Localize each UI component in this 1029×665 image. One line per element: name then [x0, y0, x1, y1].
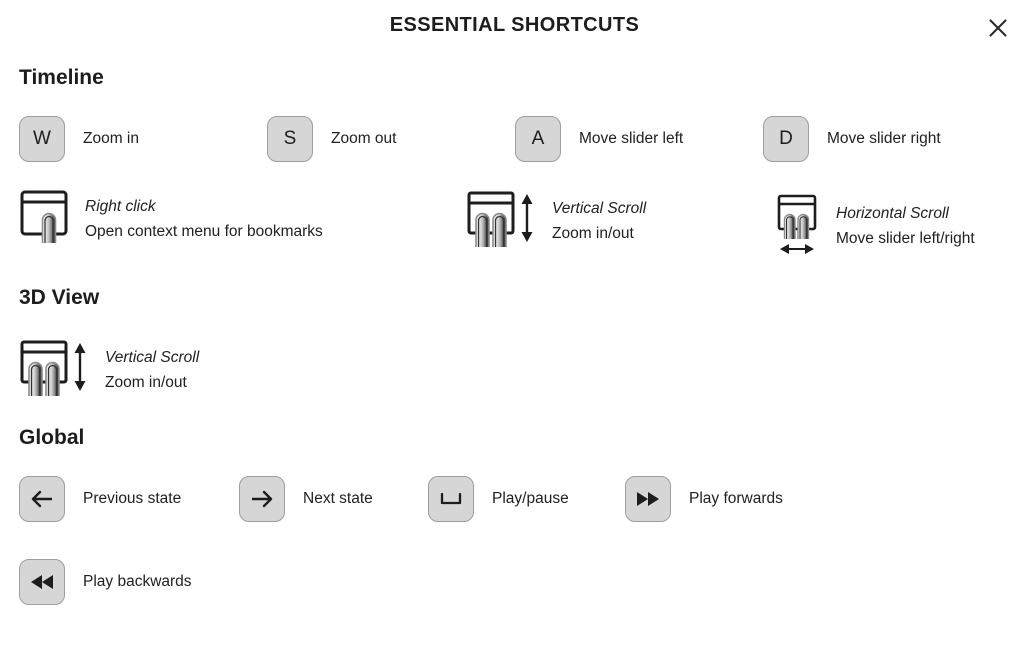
- timeline-key-row: W Zoom in S Zoom out A Move slider left …: [19, 116, 1029, 162]
- keycap-a[interactable]: A: [515, 116, 561, 162]
- keycap-s[interactable]: S: [267, 116, 313, 162]
- shortcut-item[interactable]: Horizontal Scroll Move slider left/right: [776, 189, 975, 264]
- shortcut-item[interactable]: Next state: [239, 476, 428, 522]
- shortcut-label: Play backwards: [83, 573, 192, 591]
- shortcut-desc: Zoom in/out: [105, 371, 199, 395]
- shortcut-item[interactable]: A Move slider left: [515, 116, 763, 162]
- shortcut-action: Right click: [85, 195, 323, 219]
- shortcut-item[interactable]: Right click Open context menu for bookma…: [19, 189, 466, 250]
- keycap-w[interactable]: W: [19, 116, 65, 162]
- shortcut-label: Zoom in: [83, 130, 139, 148]
- shortcut-item[interactable]: Play backwards: [19, 559, 192, 605]
- space-bar-icon: [438, 490, 464, 508]
- keycap-label: S: [284, 128, 297, 150]
- shortcut-text: Vertical Scroll Zoom in/out: [105, 346, 199, 394]
- shortcut-item[interactable]: Vertical Scroll Zoom in/out: [466, 189, 776, 254]
- shortcut-item[interactable]: Play/pause: [428, 476, 625, 522]
- shortcut-text: Horizontal Scroll Move slider left/right: [836, 202, 975, 250]
- mouse-vertical-scroll-icon: [19, 338, 99, 403]
- shortcut-label: Play forwards: [689, 490, 783, 508]
- global-key-row-1: Previous state Next state: [19, 476, 1029, 522]
- shortcut-label: Move slider left: [579, 130, 683, 148]
- close-button[interactable]: [983, 13, 1013, 43]
- view3d-mouse-row: Vertical Scroll Zoom in/out: [19, 338, 1029, 403]
- section-heading-global: Global: [19, 426, 1029, 450]
- keycap-label: D: [779, 128, 793, 150]
- shortcut-action: Horizontal Scroll: [836, 202, 975, 226]
- fast-forward-icon: [634, 490, 662, 508]
- shortcut-item[interactable]: Previous state: [19, 476, 239, 522]
- dialog-header: ESSENTIAL SHORTCUTS: [0, 0, 1029, 56]
- timeline-mouse-row: Right click Open context menu for bookma…: [19, 189, 1029, 264]
- mouse-horizontal-scroll-icon: [776, 193, 822, 264]
- keycap-space[interactable]: [428, 476, 474, 522]
- shortcut-text: Right click Open context menu for bookma…: [85, 195, 323, 243]
- shortcut-label: Move slider right: [827, 130, 941, 148]
- keycap-label: A: [532, 128, 545, 150]
- shortcut-action: Vertical Scroll: [552, 197, 646, 221]
- shortcut-label: Previous state: [83, 490, 181, 508]
- shortcut-item[interactable]: D Move slider right: [763, 116, 941, 162]
- section-timeline: Timeline W Zoom in S Zoom out A Move sli…: [0, 66, 1029, 264]
- shortcut-item[interactable]: W Zoom in: [19, 116, 267, 162]
- global-key-row-2: Play backwards: [19, 559, 1029, 605]
- page-title: ESSENTIAL SHORTCUTS: [0, 14, 1029, 37]
- section-heading-3d-view: 3D View: [19, 286, 1029, 310]
- section-global: Global Previous state: [0, 426, 1029, 605]
- keycap-d[interactable]: D: [763, 116, 809, 162]
- shortcut-item[interactable]: S Zoom out: [267, 116, 515, 162]
- shortcut-label: Play/pause: [492, 490, 569, 508]
- mouse-vertical-scroll-icon: [466, 189, 546, 254]
- arrow-left-icon: [29, 488, 55, 510]
- shortcut-label: Zoom out: [331, 130, 396, 148]
- shortcut-item[interactable]: Play forwards: [625, 476, 783, 522]
- shortcut-item[interactable]: Vertical Scroll Zoom in/out: [19, 338, 199, 403]
- shortcut-desc: Move slider left/right: [836, 227, 975, 251]
- keycap-label: W: [33, 128, 51, 150]
- close-icon: [987, 17, 1009, 39]
- shortcut-label: Next state: [303, 490, 373, 508]
- section-heading-timeline: Timeline: [19, 66, 1029, 90]
- keycap-rewind[interactable]: [19, 559, 65, 605]
- keycap-arrow-right[interactable]: [239, 476, 285, 522]
- shortcut-text: Vertical Scroll Zoom in/out: [552, 197, 646, 245]
- arrow-right-icon: [249, 488, 275, 510]
- shortcut-desc: Open context menu for bookmarks: [85, 220, 323, 244]
- shortcut-desc: Zoom in/out: [552, 222, 646, 246]
- keycap-arrow-left[interactable]: [19, 476, 65, 522]
- section-3d-view: 3D View: [0, 286, 1029, 403]
- rewind-icon: [28, 573, 56, 591]
- shortcut-action: Vertical Scroll: [105, 346, 199, 370]
- keycap-fast-forward[interactable]: [625, 476, 671, 522]
- mouse-right-click-icon: [19, 189, 71, 250]
